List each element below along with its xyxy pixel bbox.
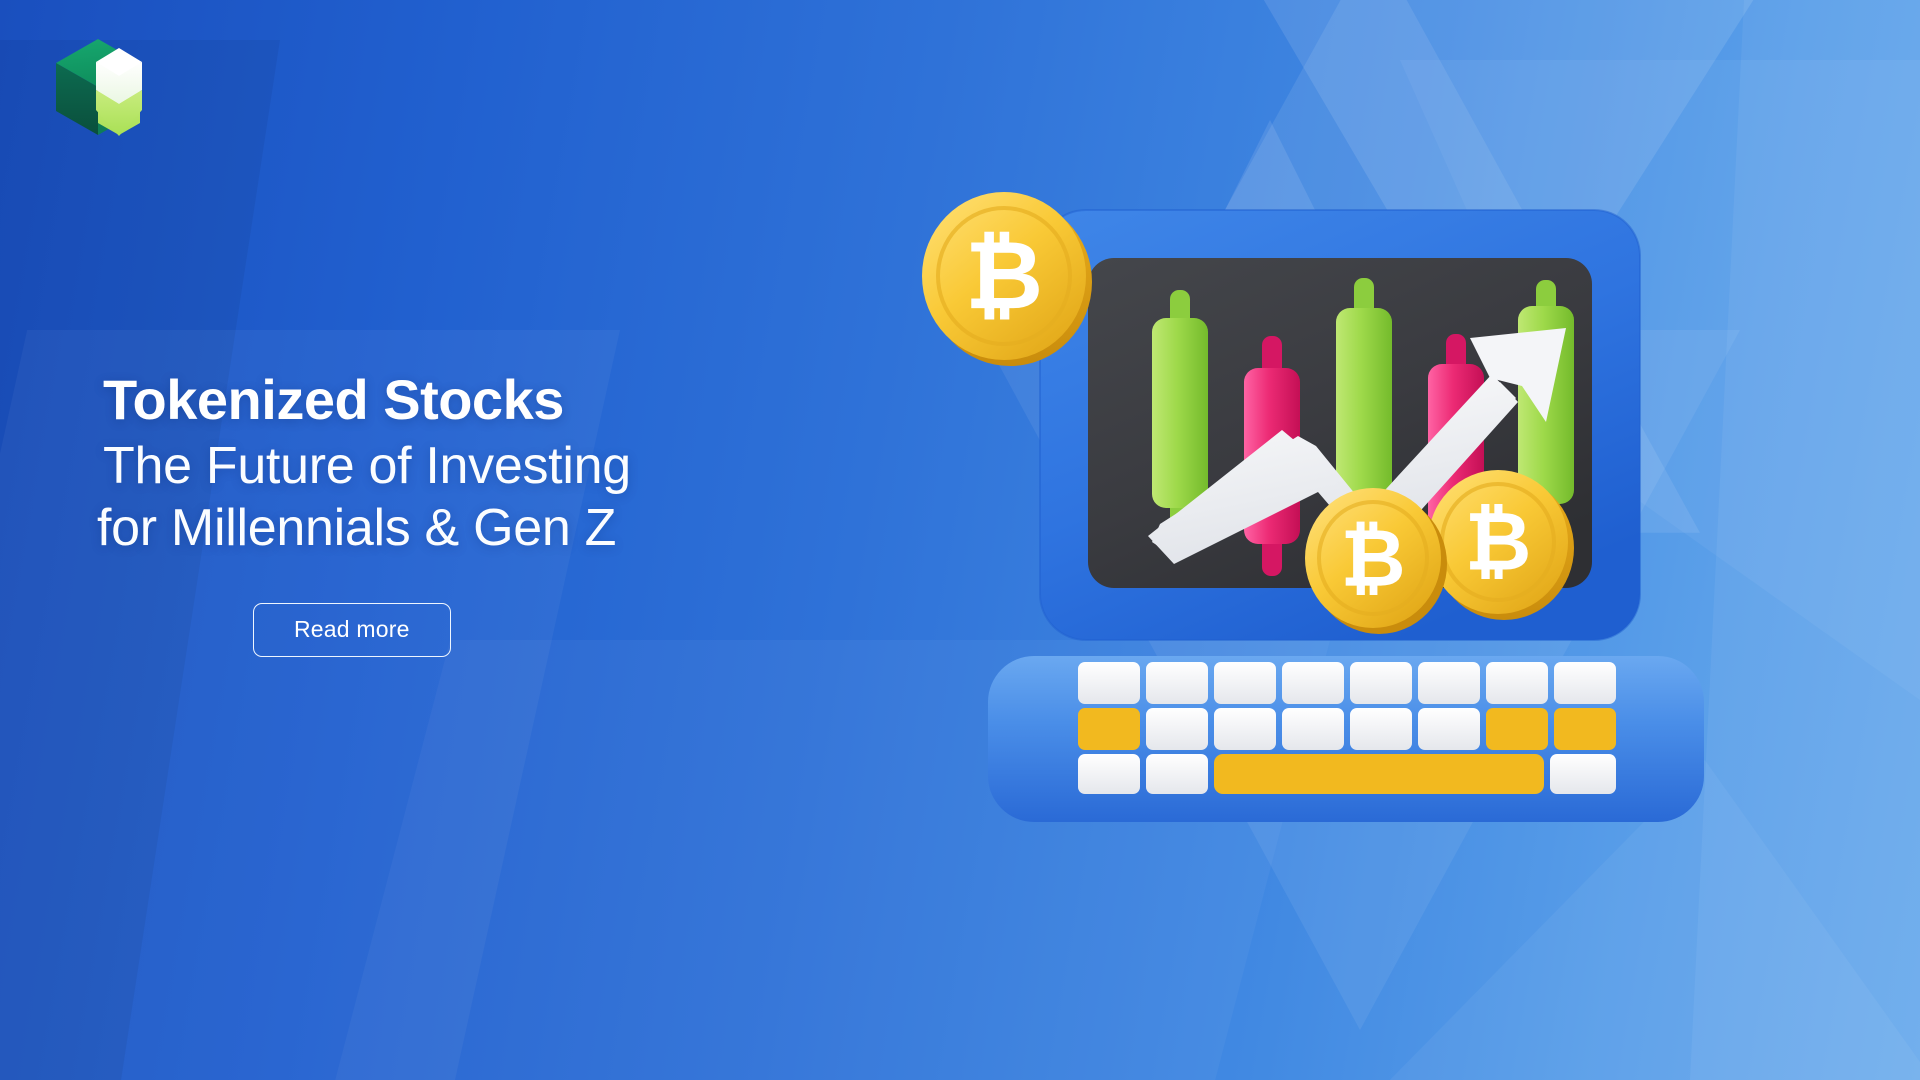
- hexagon-cube-logo-icon[interactable]: [52, 36, 144, 136]
- copy-block: Tokenized Stocks The Future of Investing…: [103, 370, 963, 657]
- promo-banner: Tokenized Stocks The Future of Investing…: [0, 0, 1920, 1080]
- subtitle-line-1: The Future of Investing: [103, 436, 963, 497]
- read-more-button[interactable]: Read more: [253, 603, 451, 657]
- svg-text:₿: ₿: [1465, 497, 1532, 588]
- laptop-illustration: ₿ ₿: [1030, 150, 1830, 870]
- svg-text:₿: ₿: [965, 223, 1043, 330]
- page-title: Tokenized Stocks: [103, 370, 963, 430]
- subtitle-line-2: for Millennials & Gen Z: [97, 498, 963, 559]
